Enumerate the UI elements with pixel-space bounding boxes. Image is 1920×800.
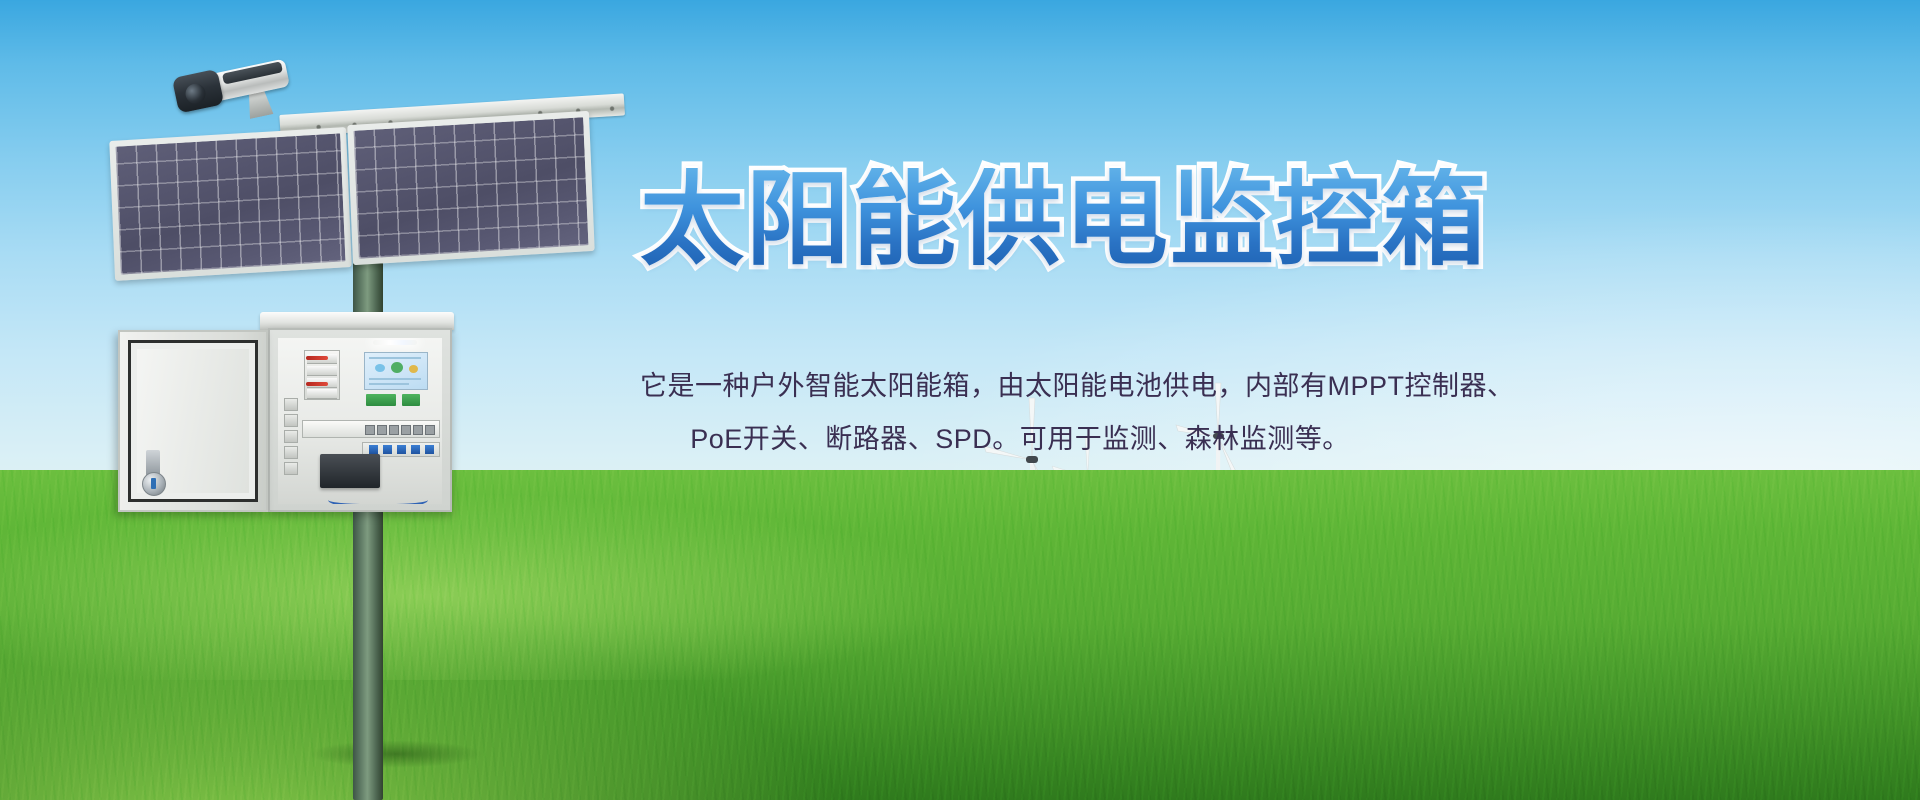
cabinet-interior — [278, 338, 442, 504]
ethernet-cable — [328, 488, 428, 504]
page-title: 太阳能供电监控箱 — [640, 168, 1488, 272]
solar-panel-rig — [112, 110, 582, 275]
grass-foreground — [0, 470, 1920, 800]
grass-texture — [0, 470, 1920, 800]
cabinet-door — [118, 330, 268, 512]
subtitle-line-1: 它是一种户外智能太阳能箱，由太阳能电池供电，内部有MPPT控制器、 — [640, 360, 1400, 413]
solar-cells-right — [354, 117, 589, 259]
pole-shadow — [300, 735, 540, 773]
subtitle-line-2: PoE开关、断路器、SPD。可用于监测、森林监测等。 — [640, 413, 1400, 466]
battery — [320, 454, 380, 488]
din-rail-modules — [284, 398, 298, 488]
camera-lens-icon — [184, 82, 208, 106]
solar-panel-left — [109, 127, 351, 281]
hero-banner: 太阳能供电监控箱 太阳能供电监控箱 它是一种户外智能太阳能箱，由太阳能电池供电，… — [0, 0, 1920, 800]
camera-hood — [172, 69, 224, 114]
solar-cells-left — [116, 133, 346, 274]
terminal-block-b — [402, 394, 420, 406]
page-subtitle: 它是一种户外智能太阳能箱，由太阳能电池供电，内部有MPPT控制器、 PoE开关、… — [640, 360, 1400, 465]
terminal-block-a — [366, 394, 396, 406]
cabinet-enclosure — [268, 328, 452, 512]
solar-power-cabinet — [118, 312, 454, 517]
mppt-controller-display — [364, 352, 428, 390]
solar-panel-right — [347, 111, 594, 265]
cabinet-light — [373, 340, 417, 345]
poe-switch — [302, 420, 440, 438]
lock-icon — [142, 472, 166, 496]
